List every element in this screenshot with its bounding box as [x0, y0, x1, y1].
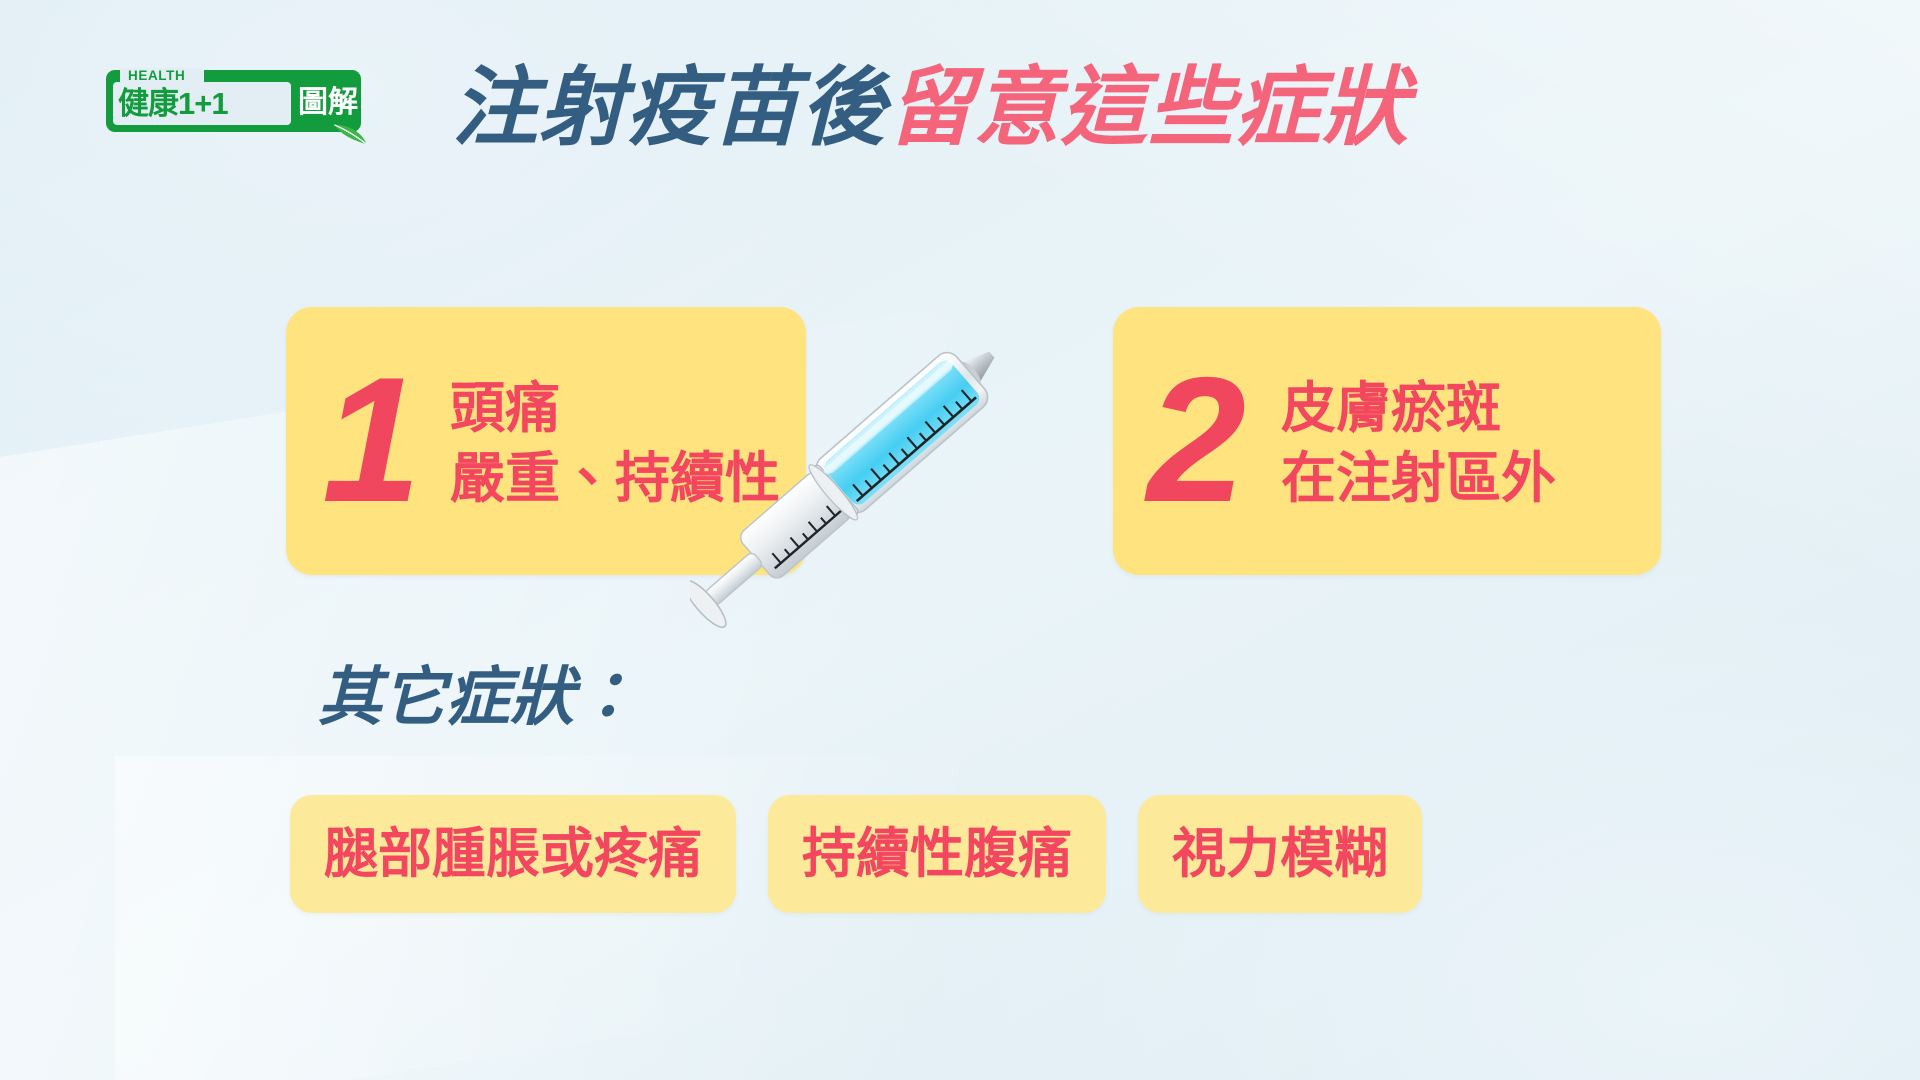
syringe-fluid — [821, 357, 983, 508]
header: HEALTH 健康1+1 圖解 注射疫苗後留意這些症狀 — [0, 0, 1920, 190]
symptom-chip-1: 腿部腫脹或疼痛 — [290, 795, 736, 913]
infographic-canvas: HEALTH 健康1+1 圖解 注射疫苗後留意這些症狀 1 頭痛 嚴重、持續性 … — [0, 0, 1920, 1080]
syringe-needle — [992, 293, 1063, 355]
leaf-icon — [332, 122, 370, 148]
symptom-chip-2: 持續性腹痛 — [768, 795, 1106, 913]
symptom-card-2-text: 皮膚瘀斑 在注射區外 — [1281, 373, 1556, 513]
logo-tag-text: 圖解 — [298, 83, 358, 123]
symptom-chip-3-label: 視力模糊 — [1172, 822, 1388, 886]
other-symptoms-heading: 其它症狀： — [318, 655, 638, 739]
symptom-card-2-line2: 在注射區外 — [1281, 443, 1556, 513]
logo-brand-text: 健康1+1 — [118, 84, 228, 124]
symptom-card-2-line1: 皮膚瘀斑 — [1281, 373, 1556, 443]
symptom-chip-3: 視力模糊 — [1138, 795, 1422, 913]
logo-eyebrow-text: HEALTH — [128, 69, 185, 82]
page-title-pink-part: 留意這些症狀 — [887, 60, 1409, 156]
symptom-chip-2-label: 持續性腹痛 — [802, 822, 1072, 886]
other-symptoms-chip-row: 腿部腫脹或疼痛 持續性腹痛 視力模糊 — [290, 795, 1422, 913]
brand-logo: HEALTH 健康1+1 圖解 — [106, 70, 361, 132]
symptom-card-2-number: 2 — [1147, 351, 1242, 529]
page-title-navy-part: 注射疫苗後 — [452, 60, 887, 156]
page-title: 注射疫苗後留意這些症狀 — [452, 56, 1409, 160]
symptom-card-2: 2 皮膚瘀斑 在注射區外 — [1113, 307, 1661, 575]
symptom-chip-1-label: 腿部腫脹或疼痛 — [324, 822, 702, 886]
syringe-icon — [690, 230, 1120, 630]
symptom-card-1-number: 1 — [322, 351, 417, 529]
